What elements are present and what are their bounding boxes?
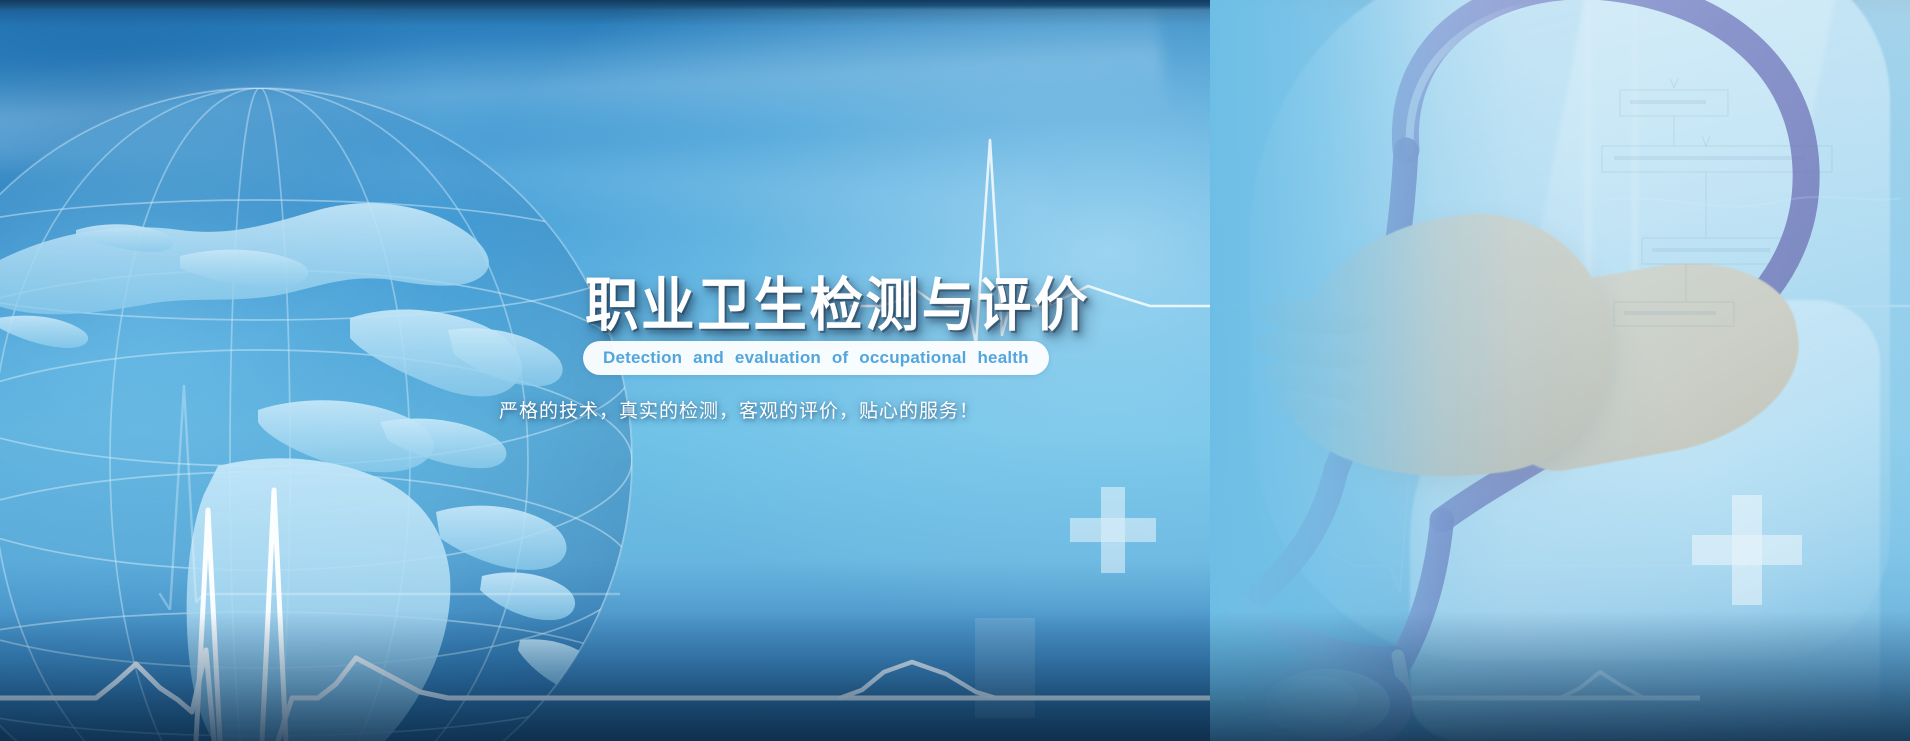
subtitle-english: Detection and evaluation of occupational… [603, 348, 1029, 368]
subtitle-pill: Detection and evaluation of occupational… [583, 341, 1049, 375]
occupational-health-banner: 职业卫生检测与评价 Detection and evaluation of oc… [0, 0, 1910, 741]
page-title: 职业卫生检测与评价 [585, 258, 1090, 342]
tagline: 严格的技术，真实的检测，客观的评价，贴心的服务！ [499, 396, 979, 423]
banner-text-block: 职业卫生检测与评价 Detection and evaluation of oc… [0, 0, 1910, 741]
